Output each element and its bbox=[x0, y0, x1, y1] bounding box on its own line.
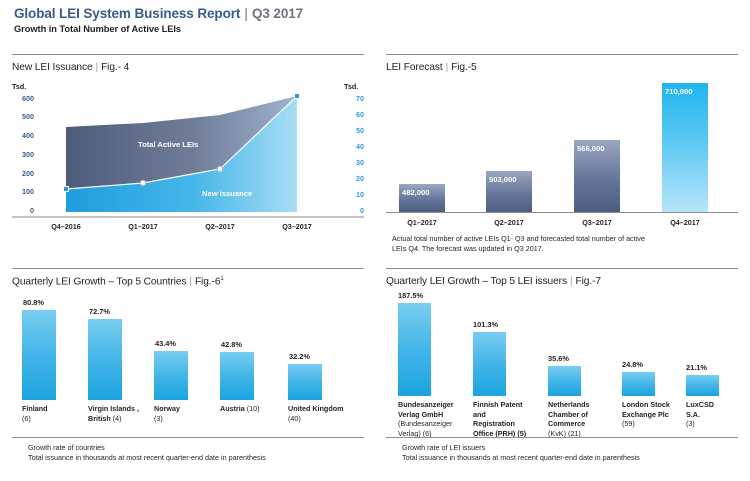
fig5-chart: 482,000 503,000 566,000 710,000 Q1–2017 … bbox=[386, 78, 738, 238]
fig7-title-text: Quarterly LEI Growth – Top 5 LEI issuers bbox=[386, 276, 567, 287]
fig6-bar bbox=[154, 351, 188, 400]
fig6-footnote: Growth rate of countries Total issuance … bbox=[28, 443, 266, 463]
report-subtitle: Growth in Total Number of Active LEIs bbox=[14, 24, 303, 34]
fig6-bar bbox=[288, 364, 322, 400]
fig6-footnote-line1: Growth rate of countries bbox=[28, 443, 266, 453]
fig6-category-name: Norway bbox=[154, 404, 180, 413]
fig7-category-line: Verlag GmbH bbox=[398, 410, 443, 419]
fig7-category-line: (Bundesanzeiger bbox=[398, 419, 452, 428]
fig6-bar bbox=[22, 310, 56, 400]
fig7-category-label: Finnish Patent and Registration Office (… bbox=[473, 400, 547, 438]
fig7-category-label: LuxCSD S.A. (3) bbox=[686, 400, 742, 429]
fig6-plot bbox=[12, 296, 364, 400]
fig7-title: Quarterly LEI Growth – Top 5 LEI issuers… bbox=[386, 276, 601, 287]
fig5-footnote-line2: LEIs Q4. The forecast was updated in Q3 … bbox=[392, 244, 645, 254]
fig7-bar-value: 24.8% bbox=[622, 360, 643, 369]
fig7-bar bbox=[622, 372, 655, 396]
fig6-bottom-rule bbox=[12, 437, 364, 438]
fig7-footnote: Growth rate of LEI issuers Total issuanc… bbox=[402, 443, 640, 463]
fig4-xtick: Q3–2017 bbox=[263, 222, 331, 231]
fig7-category-line: Registration bbox=[473, 419, 515, 428]
fig6-category-name: United Kingdom bbox=[288, 404, 344, 413]
fig5-top-rule bbox=[386, 54, 738, 55]
fig6-bar-value: 72.7% bbox=[89, 307, 110, 316]
fig7-title-divider: | bbox=[570, 276, 573, 287]
fig5-bar-value: 710,000 bbox=[665, 87, 692, 96]
fig5-plot bbox=[386, 78, 738, 218]
page-title: Global LEI System Business Report bbox=[14, 6, 240, 21]
fig6-chart: 80.8% 72.7% 43.4% 42.8% 32.2% Finland (6… bbox=[12, 296, 364, 446]
fig4-marker bbox=[217, 166, 223, 172]
fig6-figure-number: Fig.-6 bbox=[195, 276, 220, 287]
fig5-bar-value: 566,000 bbox=[577, 144, 604, 153]
fig7-category-label: London Stock Exchange Plc (59) bbox=[622, 400, 696, 429]
fig7-category-line: (3) bbox=[686, 419, 695, 428]
report-period: Q3 2017 bbox=[252, 6, 303, 21]
fig7-category-line: Exchange Plc bbox=[622, 410, 669, 419]
fig7-category-line: Finnish Patent bbox=[473, 400, 523, 409]
fig6-bar bbox=[220, 352, 254, 400]
fig7-chart: 187.5% 101.3% 35.6% 24.8% 21.1% Bundesan… bbox=[386, 290, 738, 440]
fig6-title: Quarterly LEI Growth – Top 5 Countries|F… bbox=[12, 276, 224, 287]
fig6-bar-value: 43.4% bbox=[155, 339, 176, 348]
fig6-bar-value: 32.2% bbox=[289, 352, 310, 361]
fig6-category-label: Norway (3) bbox=[154, 404, 216, 423]
fig6-bar-value: 80.8% bbox=[23, 298, 44, 307]
fig6-title-divider: | bbox=[189, 276, 192, 287]
fig7-category-label: Bundesanzeiger Verlag GmbH (Bundesanzeig… bbox=[398, 400, 472, 438]
fig6-category-label: Virgin Islands , British (4) bbox=[88, 404, 154, 423]
fig5-figure-number: Fig.-5 bbox=[451, 62, 476, 73]
fig4-xtick: Q2–2017 bbox=[186, 222, 254, 231]
fig5-xtick: Q4–2017 bbox=[651, 218, 719, 227]
fig6-category-name-line2: British bbox=[88, 414, 111, 423]
fig6-figure-superscript: 1 bbox=[220, 276, 223, 282]
fig6-footnote-line2: Total issuance in thousands at most rece… bbox=[28, 453, 266, 463]
fig4-marker bbox=[64, 187, 69, 192]
fig6-category-count: (4) bbox=[113, 414, 122, 423]
report-header: Global LEI System Business Report|Q3 201… bbox=[14, 6, 303, 34]
fig7-bar bbox=[398, 303, 431, 396]
fig4-title-divider: | bbox=[96, 62, 99, 73]
fig4-plot bbox=[12, 82, 364, 222]
fig4-chart: Tsd. Tsd. 600 500 400 300 200 100 0 70 6… bbox=[12, 82, 364, 230]
fig7-bottom-rule bbox=[386, 437, 738, 438]
report-page: Global LEI System Business Report|Q3 201… bbox=[0, 0, 750, 481]
fig5-bar-value: 482,000 bbox=[402, 188, 429, 197]
fig7-category-line: and bbox=[473, 410, 486, 419]
fig6-bar bbox=[88, 319, 122, 400]
fig7-footnote-line1: Growth rate of LEI issuers bbox=[402, 443, 640, 453]
fig4-marker bbox=[140, 180, 146, 186]
fig7-category-line: LuxCSD bbox=[686, 400, 714, 409]
fig5-xtick: Q3–2017 bbox=[563, 218, 631, 227]
fig6-category-name: Austria bbox=[220, 404, 245, 413]
fig5-xtick: Q1–2017 bbox=[388, 218, 456, 227]
fig4-xtick: Q1–2017 bbox=[109, 222, 177, 231]
fig7-bar bbox=[548, 366, 581, 396]
fig7-bar-value: 187.5% bbox=[398, 291, 423, 300]
fig5-footnote: Actual total number of active LEIs Q1- Q… bbox=[392, 234, 645, 254]
fig5-bar-value: 503,000 bbox=[489, 175, 516, 184]
fig6-category-label: Finland (6) bbox=[22, 404, 84, 423]
report-title-line: Global LEI System Business Report|Q3 201… bbox=[14, 6, 303, 21]
fig7-category-line: (59) bbox=[622, 419, 635, 428]
fig6-category-name: Finland bbox=[22, 404, 48, 413]
fig6-category-label: United Kingdom (40) bbox=[288, 404, 366, 423]
fig7-bar-value: 101.3% bbox=[473, 320, 498, 329]
fig4-top-rule bbox=[12, 54, 364, 55]
fig7-category-line: S.A. bbox=[686, 410, 700, 419]
title-divider: | bbox=[244, 6, 248, 21]
fig5-xtick: Q2–2017 bbox=[475, 218, 543, 227]
fig7-figure-number: Fig.-7 bbox=[576, 276, 601, 287]
fig6-bar-value: 42.8% bbox=[221, 340, 242, 349]
fig7-category-line: Chamber of bbox=[548, 410, 588, 419]
fig4-figure-number: Fig.- 4 bbox=[101, 62, 129, 73]
fig4-marker bbox=[295, 94, 300, 99]
fig5-title-text: LEI Forecast bbox=[386, 62, 443, 73]
fig6-title-text: Quarterly LEI Growth – Top 5 Countries bbox=[12, 276, 186, 287]
fig7-bar-value: 35.6% bbox=[548, 354, 569, 363]
fig7-category-line: Netherlands bbox=[548, 400, 590, 409]
fig6-category-name: Virgin Islands , bbox=[88, 404, 139, 413]
fig6-category-count: (6) bbox=[22, 414, 31, 423]
fig4-xtick: Q4–2016 bbox=[32, 222, 100, 231]
fig6-top-rule bbox=[12, 268, 364, 269]
fig6-category-count: (3) bbox=[154, 414, 163, 423]
fig4-title-text: New LEI Issuance bbox=[12, 62, 93, 73]
fig6-category-count: (40) bbox=[288, 414, 301, 423]
fig7-category-line: Commerce bbox=[548, 419, 585, 428]
fig7-category-line: London Stock bbox=[622, 400, 670, 409]
fig7-bar-value: 21.1% bbox=[686, 363, 707, 372]
fig7-footnote-line2: Total issuance in thousands at most rece… bbox=[402, 453, 640, 463]
fig7-top-rule bbox=[386, 268, 738, 269]
fig5-footnote-line1: Actual total number of active LEIs Q1- Q… bbox=[392, 234, 645, 244]
fig7-bar bbox=[473, 332, 506, 396]
fig5-bar bbox=[662, 83, 708, 212]
fig7-category-line: Bundesanzeiger bbox=[398, 400, 454, 409]
fig4-title: New LEI Issuance|Fig.- 4 bbox=[12, 62, 129, 73]
fig5-title: LEI Forecast|Fig.-5 bbox=[386, 62, 477, 73]
fig4-label-total-active-leis: Total Active LEIs bbox=[138, 140, 198, 149]
fig6-category-label: Austria (10) bbox=[220, 404, 290, 414]
fig5-title-divider: | bbox=[446, 62, 449, 73]
fig7-bar bbox=[686, 375, 719, 396]
fig6-category-count: (10) bbox=[247, 404, 260, 413]
fig7-plot bbox=[386, 290, 738, 396]
fig4-label-new-issuance: New issuance bbox=[202, 189, 252, 198]
fig7-category-label: Netherlands Chamber of Commerce (KvK) (2… bbox=[548, 400, 622, 438]
